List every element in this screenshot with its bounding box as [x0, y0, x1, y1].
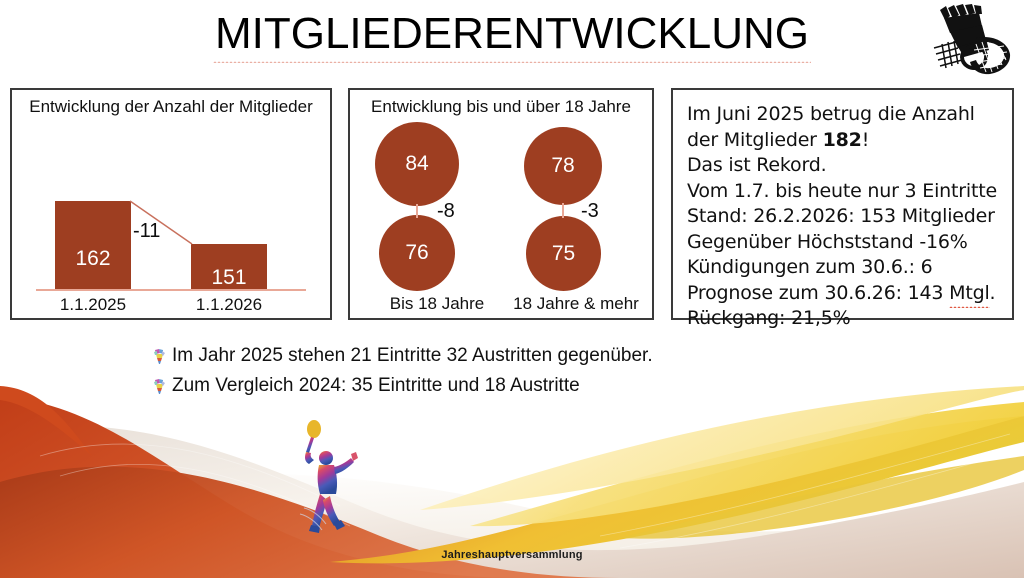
circle-o18-2026: 75 [526, 216, 601, 291]
summary-members-count: 182 [823, 129, 862, 151]
summary-line-7: Kündigungen zum 30.6.: 6 [687, 255, 1004, 281]
summary-line-8-post: . [990, 282, 996, 304]
summary-line-9: Rückgang: 21,5% [687, 306, 1004, 332]
circle-delta-u18: -8 [437, 200, 455, 222]
shuttlecock-bullet-icon [150, 346, 172, 368]
slide-footer: Jahreshauptversammlung [0, 548, 1024, 562]
summary-text-box: Im Juni 2025 betrug die Anzahl der Mitgl… [671, 88, 1014, 320]
circle-group-label-u18: Bis 18 Jahre [356, 293, 518, 315]
badminton-player-silhouette-icon [290, 418, 360, 542]
bar-chart-plot: 162 1.1.2025 151 1.1.2026 -11 [12, 90, 330, 318]
summary-line-2: der Mitglieder 182! [687, 128, 1004, 154]
bar-delta-label: -11 [133, 220, 160, 242]
page-title-text: MITGLIEDERENTWICKLUNG [211, 8, 813, 62]
summary-line-2-pre: der Mitglieder [687, 129, 823, 151]
summary-line-8: Prognose zum 30.6.26: 143 Mtgl. [687, 281, 1004, 307]
bar-value-2025: 162 [55, 247, 131, 271]
summary-line-4: Vom 1.7. bis heute nur 3 Eintritte [687, 179, 1004, 205]
page-title: MITGLIEDERENTWICKLUNG [0, 8, 1024, 62]
bar-2025 [55, 201, 131, 289]
list-item: Im Jahr 2025 stehen 21 Eintritte 32 Aust… [150, 343, 850, 369]
slide-root: MITGLIEDERENTWICKLUNG [0, 0, 1024, 578]
bar-category-2025: 1.1.2025 [45, 294, 141, 316]
circle-u18-2025: 84 [375, 122, 459, 206]
summary-line-6: Gegenüber Höchststand -16% [687, 230, 1004, 256]
circle-chart-plot: 84 76 -8 Bis 18 Jahre 78 75 -3 18 Jahre … [350, 90, 652, 318]
circle-connector-o18 [562, 203, 564, 218]
summary-line-8-pre: Prognose zum 30.6.26: 143 [687, 282, 949, 304]
summary-line-2-post: ! [862, 129, 869, 151]
summary-line-3: Das ist Rekord. [687, 153, 1004, 179]
spellcheck-flagged-word: Mtgl [949, 281, 989, 307]
circle-o18-2025: 78 [524, 127, 602, 205]
bar-value-2026: 151 [191, 266, 267, 290]
summary-line-1: Im Juni 2025 betrug die Anzahl [687, 102, 1004, 128]
circle-delta-o18: -3 [581, 200, 599, 222]
circle-u18-2026: 76 [379, 215, 455, 291]
summary-text-content: Im Juni 2025 betrug die Anzahl der Mitgl… [687, 102, 1004, 332]
circle-connector-u18 [416, 204, 418, 218]
bar-category-2026: 1.1.2026 [181, 294, 277, 316]
circle-chart-box: Entwicklung bis und über 18 Jahre 84 76 … [348, 88, 654, 320]
bar-chart-box: Entwicklung der Anzahl der Mitglieder 16… [10, 88, 332, 320]
bvl-club-logo-icon [916, 2, 1012, 80]
list-item-label: Im Jahr 2025 stehen 21 Eintritte 32 Aust… [172, 343, 653, 369]
circle-group-label-o18: 18 Jahre & mehr [498, 293, 654, 315]
summary-line-5: Stand: 26.2.2026: 153 Mitglieder [687, 204, 1004, 230]
